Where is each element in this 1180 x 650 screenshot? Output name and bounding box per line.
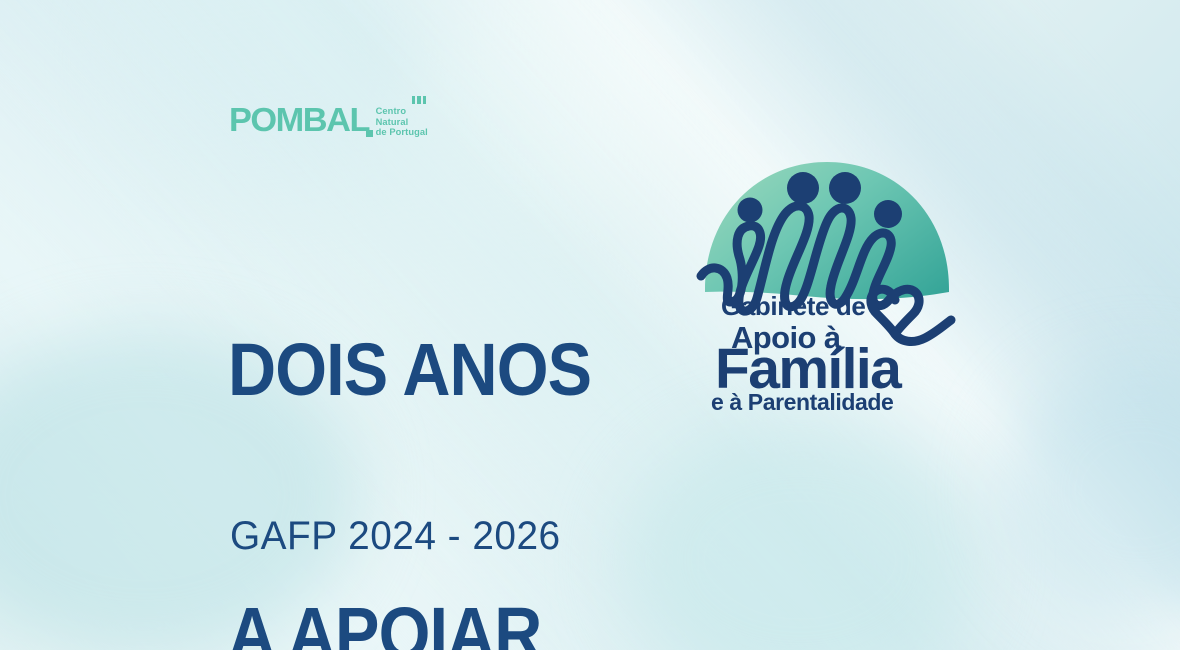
tagline-swatch-icon <box>366 130 373 137</box>
pombal-brandmark: POMBAL Centro Natural de Portugal <box>229 103 428 138</box>
pombal-wordmark: POMBAL <box>229 103 369 136</box>
gafp-wordmark-line-4: e à Parentalidade <box>711 389 893 414</box>
tagline-line-3: de Portugal <box>376 127 428 138</box>
gafp-logo: Gabinete de Apoio à Família e à Parental… <box>693 152 961 414</box>
tagline-line-2: Natural <box>376 117 428 128</box>
subtitle-programme-years: GAFP 2024 - 2026 <box>230 514 561 559</box>
headline-line-1: DOIS ANOS <box>228 326 732 414</box>
tagline-line-1: Centro <box>376 106 428 117</box>
gafp-wordmark-line-1: Gabinete de <box>721 291 865 321</box>
poster-canvas: POMBAL Centro Natural de Portugal DOIS A… <box>0 0 1180 650</box>
headline-line-2: A APOIAR <box>228 590 732 650</box>
headline: DOIS ANOS A APOIAR AS FAMÍLIAS POMBALENS… <box>228 150 732 650</box>
pombal-tagline: Centro Natural de Portugal <box>376 103 428 138</box>
